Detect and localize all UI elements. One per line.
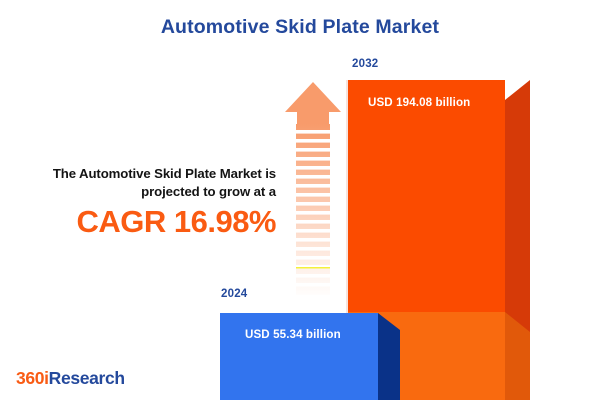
logo-part-360i: 360i bbox=[16, 368, 49, 388]
brand-logo: 360iResearch bbox=[16, 368, 125, 389]
bar-2024-front-face bbox=[220, 313, 378, 400]
statement-text: The Automotive Skid Plate Market is proj… bbox=[8, 165, 276, 200]
bar-value-2024: USD 55.34 billion bbox=[245, 328, 341, 341]
bar-label-2032: 2032 bbox=[352, 58, 378, 70]
bar-2024 bbox=[220, 313, 400, 400]
up-arrow-icon bbox=[283, 80, 343, 295]
page-title: Automotive Skid Plate Market bbox=[0, 16, 600, 39]
logo-part-research: Research bbox=[49, 368, 125, 388]
bar-value-2032: USD 194.08 billion bbox=[368, 96, 470, 109]
market-infographic: Automotive Skid Plate Market The Automot… bbox=[0, 0, 600, 400]
bar-2024-side-face bbox=[378, 313, 400, 400]
bar-label-2024: 2024 bbox=[221, 288, 247, 300]
cagr-value: CAGR 16.98% bbox=[8, 205, 276, 238]
statement-block: The Automotive Skid Plate Market is proj… bbox=[8, 165, 276, 239]
